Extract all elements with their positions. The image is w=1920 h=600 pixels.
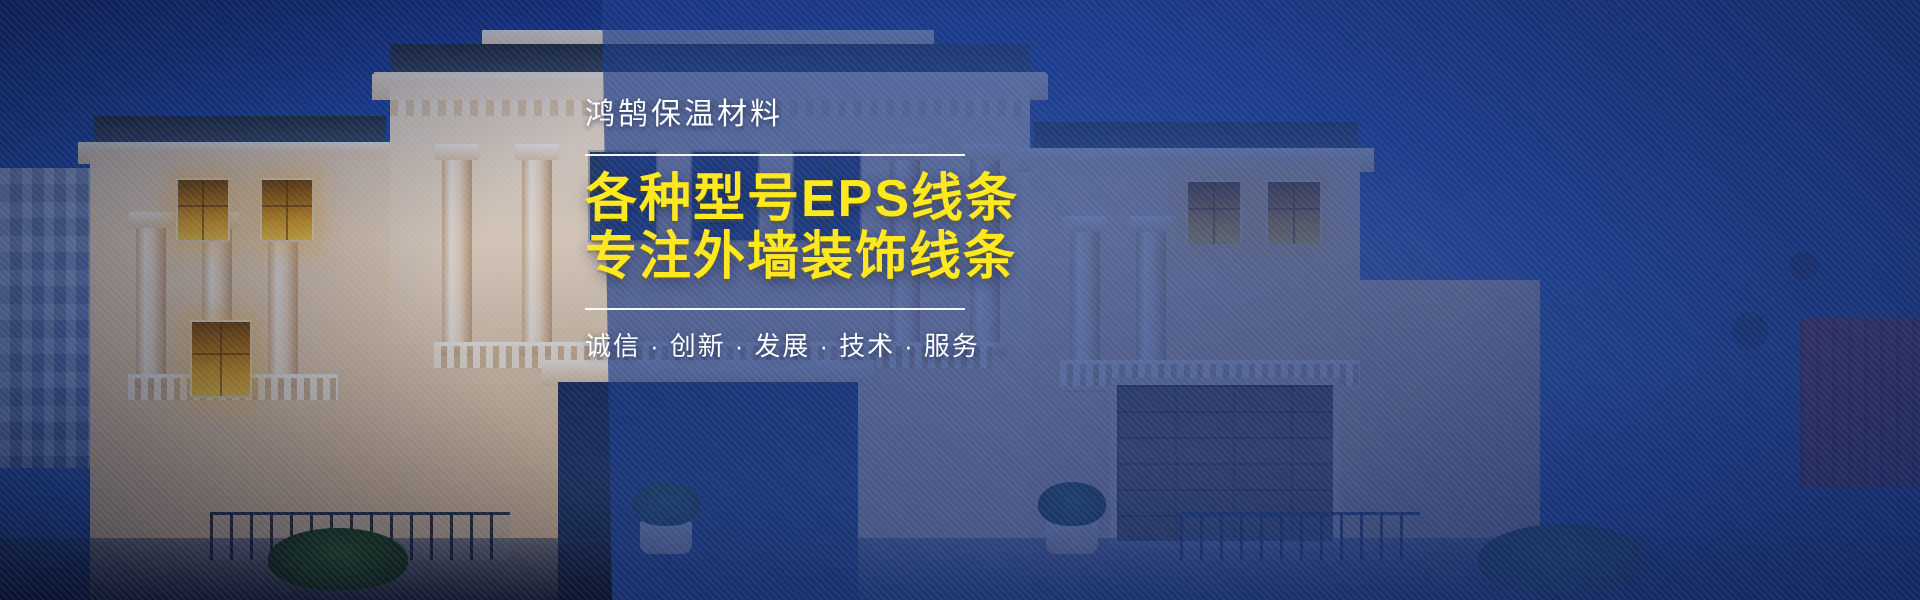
divider-below-headline — [585, 308, 965, 310]
tagline-item: 诚信 — [585, 331, 641, 361]
banner-text-block: 鸿鹄保温材料 各种型号EPS线条 专注外墙装饰线条 诚信·创新·发展·技术·服务 — [585, 96, 1145, 363]
company-name: 鸿鹄保温材料 — [585, 96, 1145, 134]
tagline-item: 发展 — [754, 331, 810, 361]
headline-line-1: 各种型号EPS线条 — [585, 170, 1145, 228]
headline-line-2: 专注外墙装饰线条 — [585, 228, 1145, 286]
tagline: 诚信·创新·发展·技术·服务 — [585, 326, 1145, 363]
tagline-separator: · — [819, 331, 830, 361]
tagline-item: 创新 — [670, 331, 726, 361]
tagline-separator: · — [735, 331, 746, 361]
tagline-separator: · — [650, 331, 661, 361]
tagline-separator: · — [904, 331, 915, 361]
tagline-item: 技术 — [839, 331, 895, 361]
tagline-item: 服务 — [924, 331, 980, 361]
promotional-banner: 鸿鹄保温材料 各种型号EPS线条 专注外墙装饰线条 诚信·创新·发展·技术·服务 — [0, 0, 1920, 600]
headline-group: 各种型号EPS线条 专注外墙装饰线条 — [585, 170, 1145, 286]
divider-above-headline — [585, 154, 965, 156]
